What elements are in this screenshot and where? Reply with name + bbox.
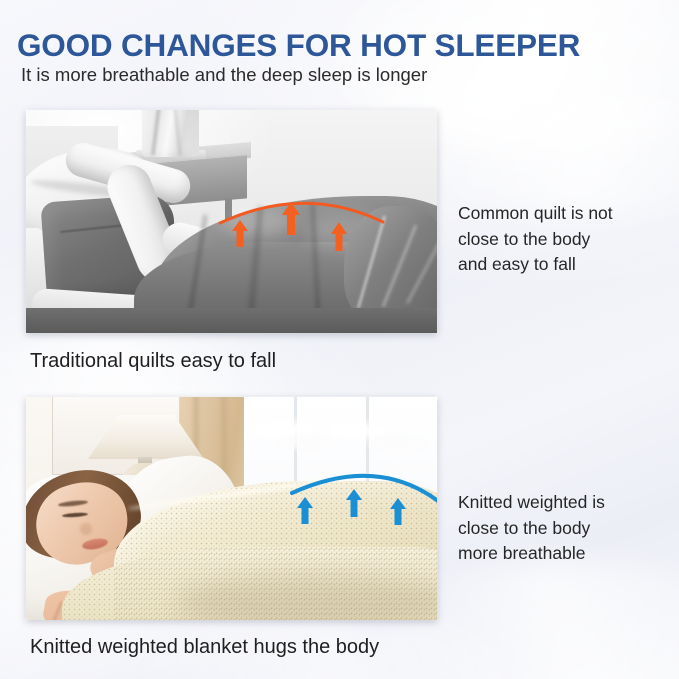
background-sheen (420, 95, 679, 215)
description-line: close to the body (458, 227, 668, 253)
sheer-curtain-ruffle (368, 437, 426, 451)
infographic-page: GOOD CHANGES FOR HOT SLEEPER It is more … (0, 0, 679, 679)
page-subtitle: It is more breathable and the deep sleep… (21, 64, 427, 86)
bed-base-shadow (26, 308, 437, 333)
description-line: Common quilt is not (458, 201, 668, 227)
traditional-quilt-caption: Traditional quilts easy to fall (30, 350, 276, 373)
page-title: GOOD CHANGES FOR HOT SLEEPER (17, 27, 667, 64)
knitted-blanket-photo (26, 397, 437, 620)
knitted-blanket-scene (26, 397, 437, 620)
knitted-blanket-caption: Knitted weighted blanket hugs the body (30, 636, 379, 659)
knitted-blanket-description: Knitted weighted is close to the body mo… (458, 490, 668, 567)
sheer-curtain-ruffle (278, 435, 328, 449)
background-wisp (470, 100, 679, 192)
description-line: Knitted weighted is (458, 490, 668, 516)
sleeper-nose (80, 523, 92, 535)
description-line: more breathable (458, 541, 668, 567)
traditional-quilt-scene (26, 110, 437, 333)
sheer-curtain-ruffle (326, 423, 390, 439)
description-line: close to the body (458, 516, 668, 542)
traditional-quilt-photo (26, 110, 437, 333)
traditional-quilt-description: Common quilt is not close to the body an… (458, 201, 668, 278)
background-wisp (430, 60, 679, 182)
description-line: and easy to fall (458, 252, 668, 278)
